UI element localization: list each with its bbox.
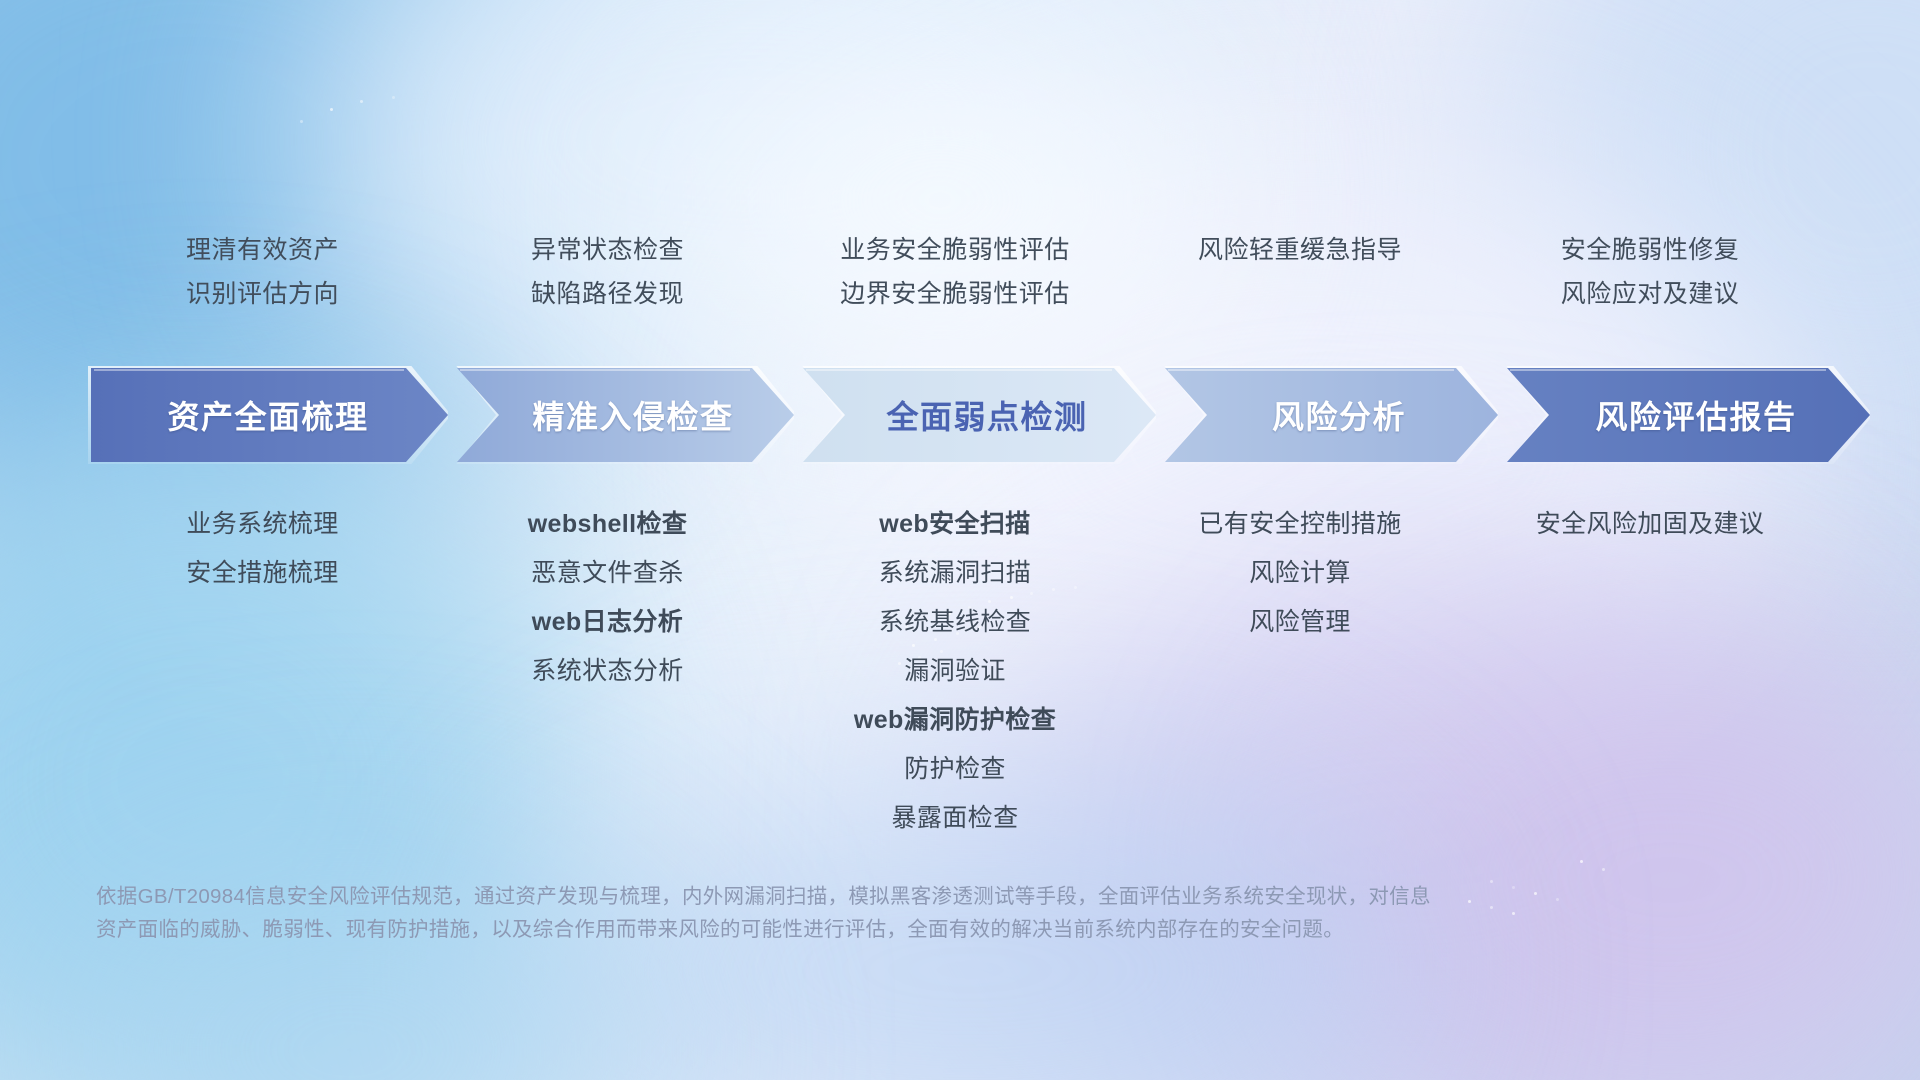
process-stage-weakness-detection[interactable]: 全面弱点检测 xyxy=(800,366,1156,464)
detail-item: 系统漏洞扫描 xyxy=(780,549,1130,598)
bottom-list-risk-analysis: 已有安全控制措施风险计算风险管理 xyxy=(1130,500,1470,647)
top-caption: 风险轻重缓急指导 xyxy=(1130,228,1470,272)
stage-label-intrusion-check: 精准入侵检查 xyxy=(532,392,733,438)
top-caption-row: 理清有效资产 识别评估方向 异常状态检查 缺陷路径发现 业务安全脆弱性评估 边界… xyxy=(90,228,1830,316)
top-captions-risk-analysis: 风险轻重缓急指导 xyxy=(1130,228,1470,316)
detail-item: webshell检查 xyxy=(435,500,780,549)
detail-item: web安全扫描 xyxy=(780,500,1130,549)
bottom-list-weakness-detection: web安全扫描系统漏洞扫描系统基线检查漏洞验证web漏洞防护检查防护检查暴露面检… xyxy=(780,500,1130,843)
top-captions-intrusion-check: 异常状态检查 缺陷路径发现 xyxy=(435,228,780,316)
detail-item: 风险管理 xyxy=(1130,598,1470,647)
footer-description: 依据GB/T20984信息安全风险评估规范，通过资产发现与梳理，内外网漏洞扫描，… xyxy=(96,880,1636,946)
detail-item: 安全措施梳理 xyxy=(90,549,435,598)
footer-line-2: 资产面临的威胁、脆弱性、现有防护措施，以及综合作用而带来风险的可能性进行评估，全… xyxy=(96,913,1636,946)
slide-canvas: 理清有效资产 识别评估方向 异常状态检查 缺陷路径发现 业务安全脆弱性评估 边界… xyxy=(0,0,1920,1080)
top-caption: 缺陷路径发现 xyxy=(435,272,780,316)
process-stage-asset-inventory[interactable]: 资产全面梳理 xyxy=(88,366,448,464)
detail-item: 系统状态分析 xyxy=(435,647,780,696)
detail-item: 已有安全控制措施 xyxy=(1130,500,1470,549)
top-captions-weakness-detection: 业务安全脆弱性评估 边界安全脆弱性评估 xyxy=(780,228,1130,316)
detail-item: web漏洞防护检查 xyxy=(780,696,1130,745)
bottom-list-intrusion-check: webshell检查恶意文件查杀web日志分析系统状态分析 xyxy=(435,500,780,696)
process-arrow-band: 资产全面梳理精准入侵检查全面弱点检测风险分析风险评估报告 xyxy=(88,366,1846,464)
detail-item: 业务系统梳理 xyxy=(90,500,435,549)
detail-item: 漏洞验证 xyxy=(780,647,1130,696)
top-caption: 安全脆弱性修复 xyxy=(1470,228,1830,272)
top-captions-asset-inventory: 理清有效资产 识别评估方向 xyxy=(90,228,435,316)
top-caption: 理清有效资产 xyxy=(90,228,435,272)
top-caption: 识别评估方向 xyxy=(90,272,435,316)
top-caption: 异常状态检查 xyxy=(435,228,780,272)
detail-item: 安全风险加固及建议 xyxy=(1470,500,1830,549)
bottom-list-row: 业务系统梳理安全措施梳理 webshell检查恶意文件查杀web日志分析系统状态… xyxy=(90,500,1830,843)
process-stage-risk-report[interactable]: 风险评估报告 xyxy=(1504,366,1870,464)
top-caption: 风险应对及建议 xyxy=(1470,272,1830,316)
process-stage-intrusion-check[interactable]: 精准入侵检查 xyxy=(454,366,794,464)
bottom-list-asset-inventory: 业务系统梳理安全措施梳理 xyxy=(90,500,435,598)
top-captions-risk-report: 安全脆弱性修复 风险应对及建议 xyxy=(1470,228,1830,316)
bottom-list-risk-report: 安全风险加固及建议 xyxy=(1470,500,1830,549)
footer-line-1: 依据GB/T20984信息安全风险评估规范，通过资产发现与梳理，内外网漏洞扫描，… xyxy=(96,880,1636,913)
stage-label-risk-analysis: 风险分析 xyxy=(1272,392,1406,438)
detail-item: 暴露面检查 xyxy=(780,794,1130,843)
stage-label-risk-report: 风险评估报告 xyxy=(1595,392,1796,438)
detail-item: 风险计算 xyxy=(1130,549,1470,598)
detail-item: 系统基线检查 xyxy=(780,598,1130,647)
top-caption: 业务安全脆弱性评估 xyxy=(780,228,1130,272)
process-stage-risk-analysis[interactable]: 风险分析 xyxy=(1162,366,1498,464)
detail-item: 防护检查 xyxy=(780,745,1130,794)
stage-label-asset-inventory: 资产全面梳理 xyxy=(167,392,368,438)
detail-item: web日志分析 xyxy=(435,598,780,647)
top-caption: 边界安全脆弱性评估 xyxy=(780,272,1130,316)
stage-label-weakness-detection: 全面弱点检测 xyxy=(886,392,1087,438)
detail-item: 恶意文件查杀 xyxy=(435,549,780,598)
